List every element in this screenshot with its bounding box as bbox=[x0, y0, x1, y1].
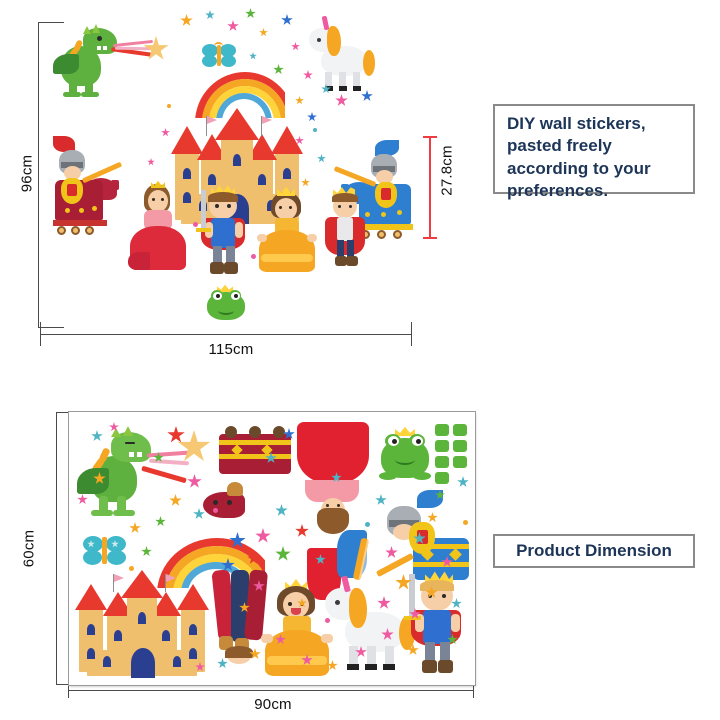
sheet-knight-cloak-red bbox=[219, 426, 291, 480]
product-dimension-callout: Product Dimension bbox=[493, 534, 695, 568]
dimension-label-90cm: 90cm bbox=[238, 696, 308, 713]
dimension-label-115cm: 115cm bbox=[196, 341, 266, 358]
sheet-gown-pieces bbox=[215, 570, 271, 664]
dimension-label-27-8cm: 27.8cm bbox=[439, 140, 456, 202]
sheet-mini-figures bbox=[473, 422, 476, 480]
wall-arrangement-artwork bbox=[45, 8, 405, 328]
sheet-butterfly bbox=[83, 534, 129, 568]
butterfly-sticker bbox=[202, 42, 238, 70]
dimension-label-96cm: 96cm bbox=[19, 144, 36, 204]
dimension-label-60cm: 60cm bbox=[21, 524, 38, 574]
prince-cape-sticker bbox=[323, 186, 371, 274]
princess-red-sticker bbox=[128, 180, 190, 272]
sticker-sheet bbox=[68, 411, 476, 686]
sheet-princess-red-inverted bbox=[297, 422, 369, 542]
sheet-castle bbox=[77, 570, 209, 680]
sheet-frog-prince bbox=[379, 426, 431, 486]
red-knight-sticker bbox=[45, 136, 123, 240]
sheet-unicorn bbox=[321, 576, 421, 678]
sheet-lance-pieces bbox=[349, 538, 383, 582]
sheet-horse-head-red bbox=[199, 482, 251, 524]
sheet-prince-sword bbox=[407, 570, 471, 676]
unicorn-sticker bbox=[307, 16, 383, 92]
prince-sword-sticker bbox=[197, 184, 255, 278]
sheet-small-parts bbox=[435, 424, 469, 488]
diy-callout: DIY wall stickers, pasted freely accordi… bbox=[493, 104, 695, 194]
princess-yellow-sticker bbox=[257, 186, 317, 278]
frog-prince-sticker bbox=[205, 284, 247, 322]
dragon-sticker bbox=[53, 24, 131, 98]
product-infographic: 96cm 115cm 27.8cm bbox=[0, 0, 720, 720]
